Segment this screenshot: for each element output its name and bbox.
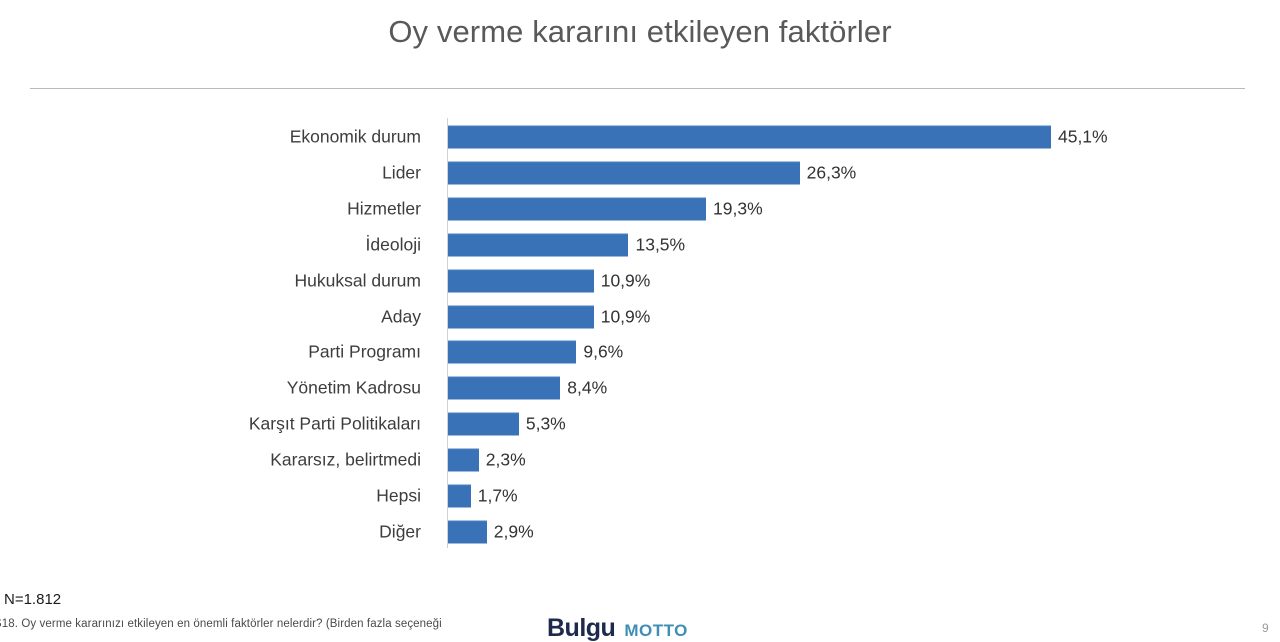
bar-row: İdeoloji13,5% (0, 227, 1280, 263)
category-label: Ekonomik durum (290, 127, 421, 146)
bar-row: Ekonomik durum45,1% (0, 119, 1280, 155)
bar (448, 126, 1051, 149)
page-title: Oy verme kararını etkileyen faktörler (0, 14, 1280, 50)
bar-row: Diğer2,9% (0, 514, 1280, 550)
category-label: Aday (381, 307, 421, 326)
bar (448, 305, 594, 328)
category-label: Hukuksal durum (295, 271, 421, 290)
category-label: Parti Programı (308, 343, 421, 362)
bar-row: Karşıt Parti Politikaları5,3% (0, 406, 1280, 442)
title-divider (30, 88, 1245, 89)
logo-bulgu-text: Bulgu (547, 616, 615, 641)
bar (448, 269, 594, 292)
question-note: S18. Oy verme kararınızı etkileyen en ön… (0, 618, 442, 630)
bar-value-label: 45,1% (1058, 127, 1108, 148)
bar-row: Yönetim Kadrosu8,4% (0, 370, 1280, 406)
slide-canvas: Oy verme kararını etkileyen faktörler Ek… (0, 0, 1280, 640)
bar (448, 485, 471, 508)
bar-row: Hizmetler19,3% (0, 191, 1280, 227)
bar-value-label: 10,9% (601, 306, 651, 327)
bar-value-label: 1,7% (478, 486, 518, 507)
page-number: 9 (1262, 621, 1269, 635)
bar-value-label: 2,9% (494, 521, 534, 542)
bar-row: Hepsi1,7% (0, 478, 1280, 514)
bar-row: Lider26,3% (0, 155, 1280, 191)
brand-logo: Bulgu MOTTO (547, 616, 688, 641)
bar-value-label: 26,3% (807, 162, 857, 183)
bar-row: Parti Programı9,6% (0, 334, 1280, 370)
category-label: Hepsi (376, 486, 421, 505)
bar (448, 233, 628, 256)
bar (448, 197, 706, 220)
category-label: Karşıt Parti Politikaları (249, 415, 421, 434)
bar-value-label: 13,5% (635, 234, 685, 255)
bar-row: Aday10,9% (0, 299, 1280, 335)
logo-motto-text: MOTTO (624, 622, 688, 639)
category-label: İdeoloji (366, 235, 421, 254)
bar-row: Kararsız, belirtmedi2,3% (0, 442, 1280, 478)
category-label: Diğer (379, 522, 421, 541)
category-label: Yönetim Kadrosu (287, 379, 421, 398)
bar-value-label: 2,3% (486, 450, 526, 471)
bar (448, 520, 487, 543)
bar-value-label: 10,9% (601, 270, 651, 291)
bar (448, 341, 576, 364)
bar-value-label: 19,3% (713, 198, 763, 219)
sample-size-note: N=1.812 (4, 591, 61, 608)
bar-value-label: 5,3% (526, 414, 566, 435)
bar-chart-plot-area: Ekonomik durum45,1%Lider26,3%Hizmetler19… (0, 118, 1280, 550)
category-label: Hizmetler (347, 199, 421, 218)
category-label: Kararsız, belirtmedi (270, 450, 421, 469)
bar-value-label: 8,4% (567, 378, 607, 399)
bar (448, 161, 800, 184)
bar-value-label: 9,6% (583, 342, 623, 363)
bar (448, 449, 479, 472)
bar (448, 413, 519, 436)
bar (448, 377, 560, 400)
category-label: Lider (382, 163, 421, 182)
bar-row: Hukuksal durum10,9% (0, 263, 1280, 299)
